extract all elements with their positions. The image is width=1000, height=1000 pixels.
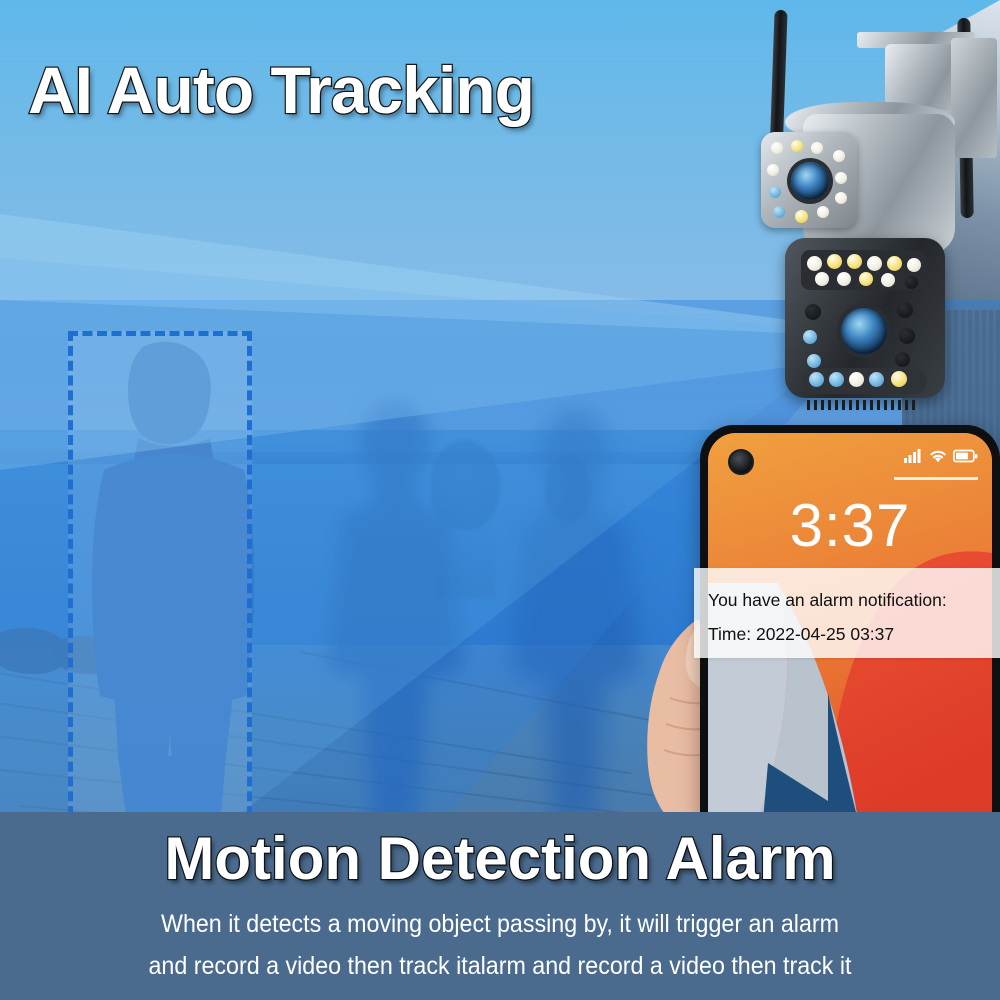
status-bar-underline bbox=[894, 477, 978, 480]
lower-lens bbox=[841, 308, 887, 354]
person-detection-bounding-box[interactable] bbox=[68, 331, 252, 831]
banner-description-line-2: and record a video then track italarm an… bbox=[35, 952, 965, 981]
upper-lens bbox=[791, 162, 829, 200]
speaker-grille bbox=[807, 400, 919, 410]
wifi-icon bbox=[928, 447, 948, 463]
notification-line-1: You have an alarm notification: bbox=[708, 591, 947, 609]
mount-plate bbox=[951, 38, 997, 158]
product-marketing-image: 3:37 You have an alarm notification: Tim… bbox=[0, 0, 1000, 1000]
notification-line-2: Time: 2022-04-25 03:37 bbox=[708, 625, 894, 643]
banner-description-line-1: When it detects a moving object passing … bbox=[35, 910, 965, 939]
bottom-banner: Motion Detection Alarm When it detects a… bbox=[0, 812, 1000, 1000]
alarm-notification[interactable]: You have an alarm notification: Time: 20… bbox=[694, 568, 1000, 658]
signal-icon bbox=[904, 447, 923, 463]
front-camera-punch-hole bbox=[728, 449, 754, 475]
phone-status-bar bbox=[904, 447, 978, 463]
dual-lens-ptz-wifi-camera bbox=[745, 10, 1000, 420]
page-title: AI Auto Tracking bbox=[28, 52, 534, 128]
battery-icon bbox=[953, 449, 978, 463]
phone-clock: 3:37 bbox=[708, 491, 992, 560]
banner-heading: Motion Detection Alarm bbox=[0, 824, 1000, 893]
